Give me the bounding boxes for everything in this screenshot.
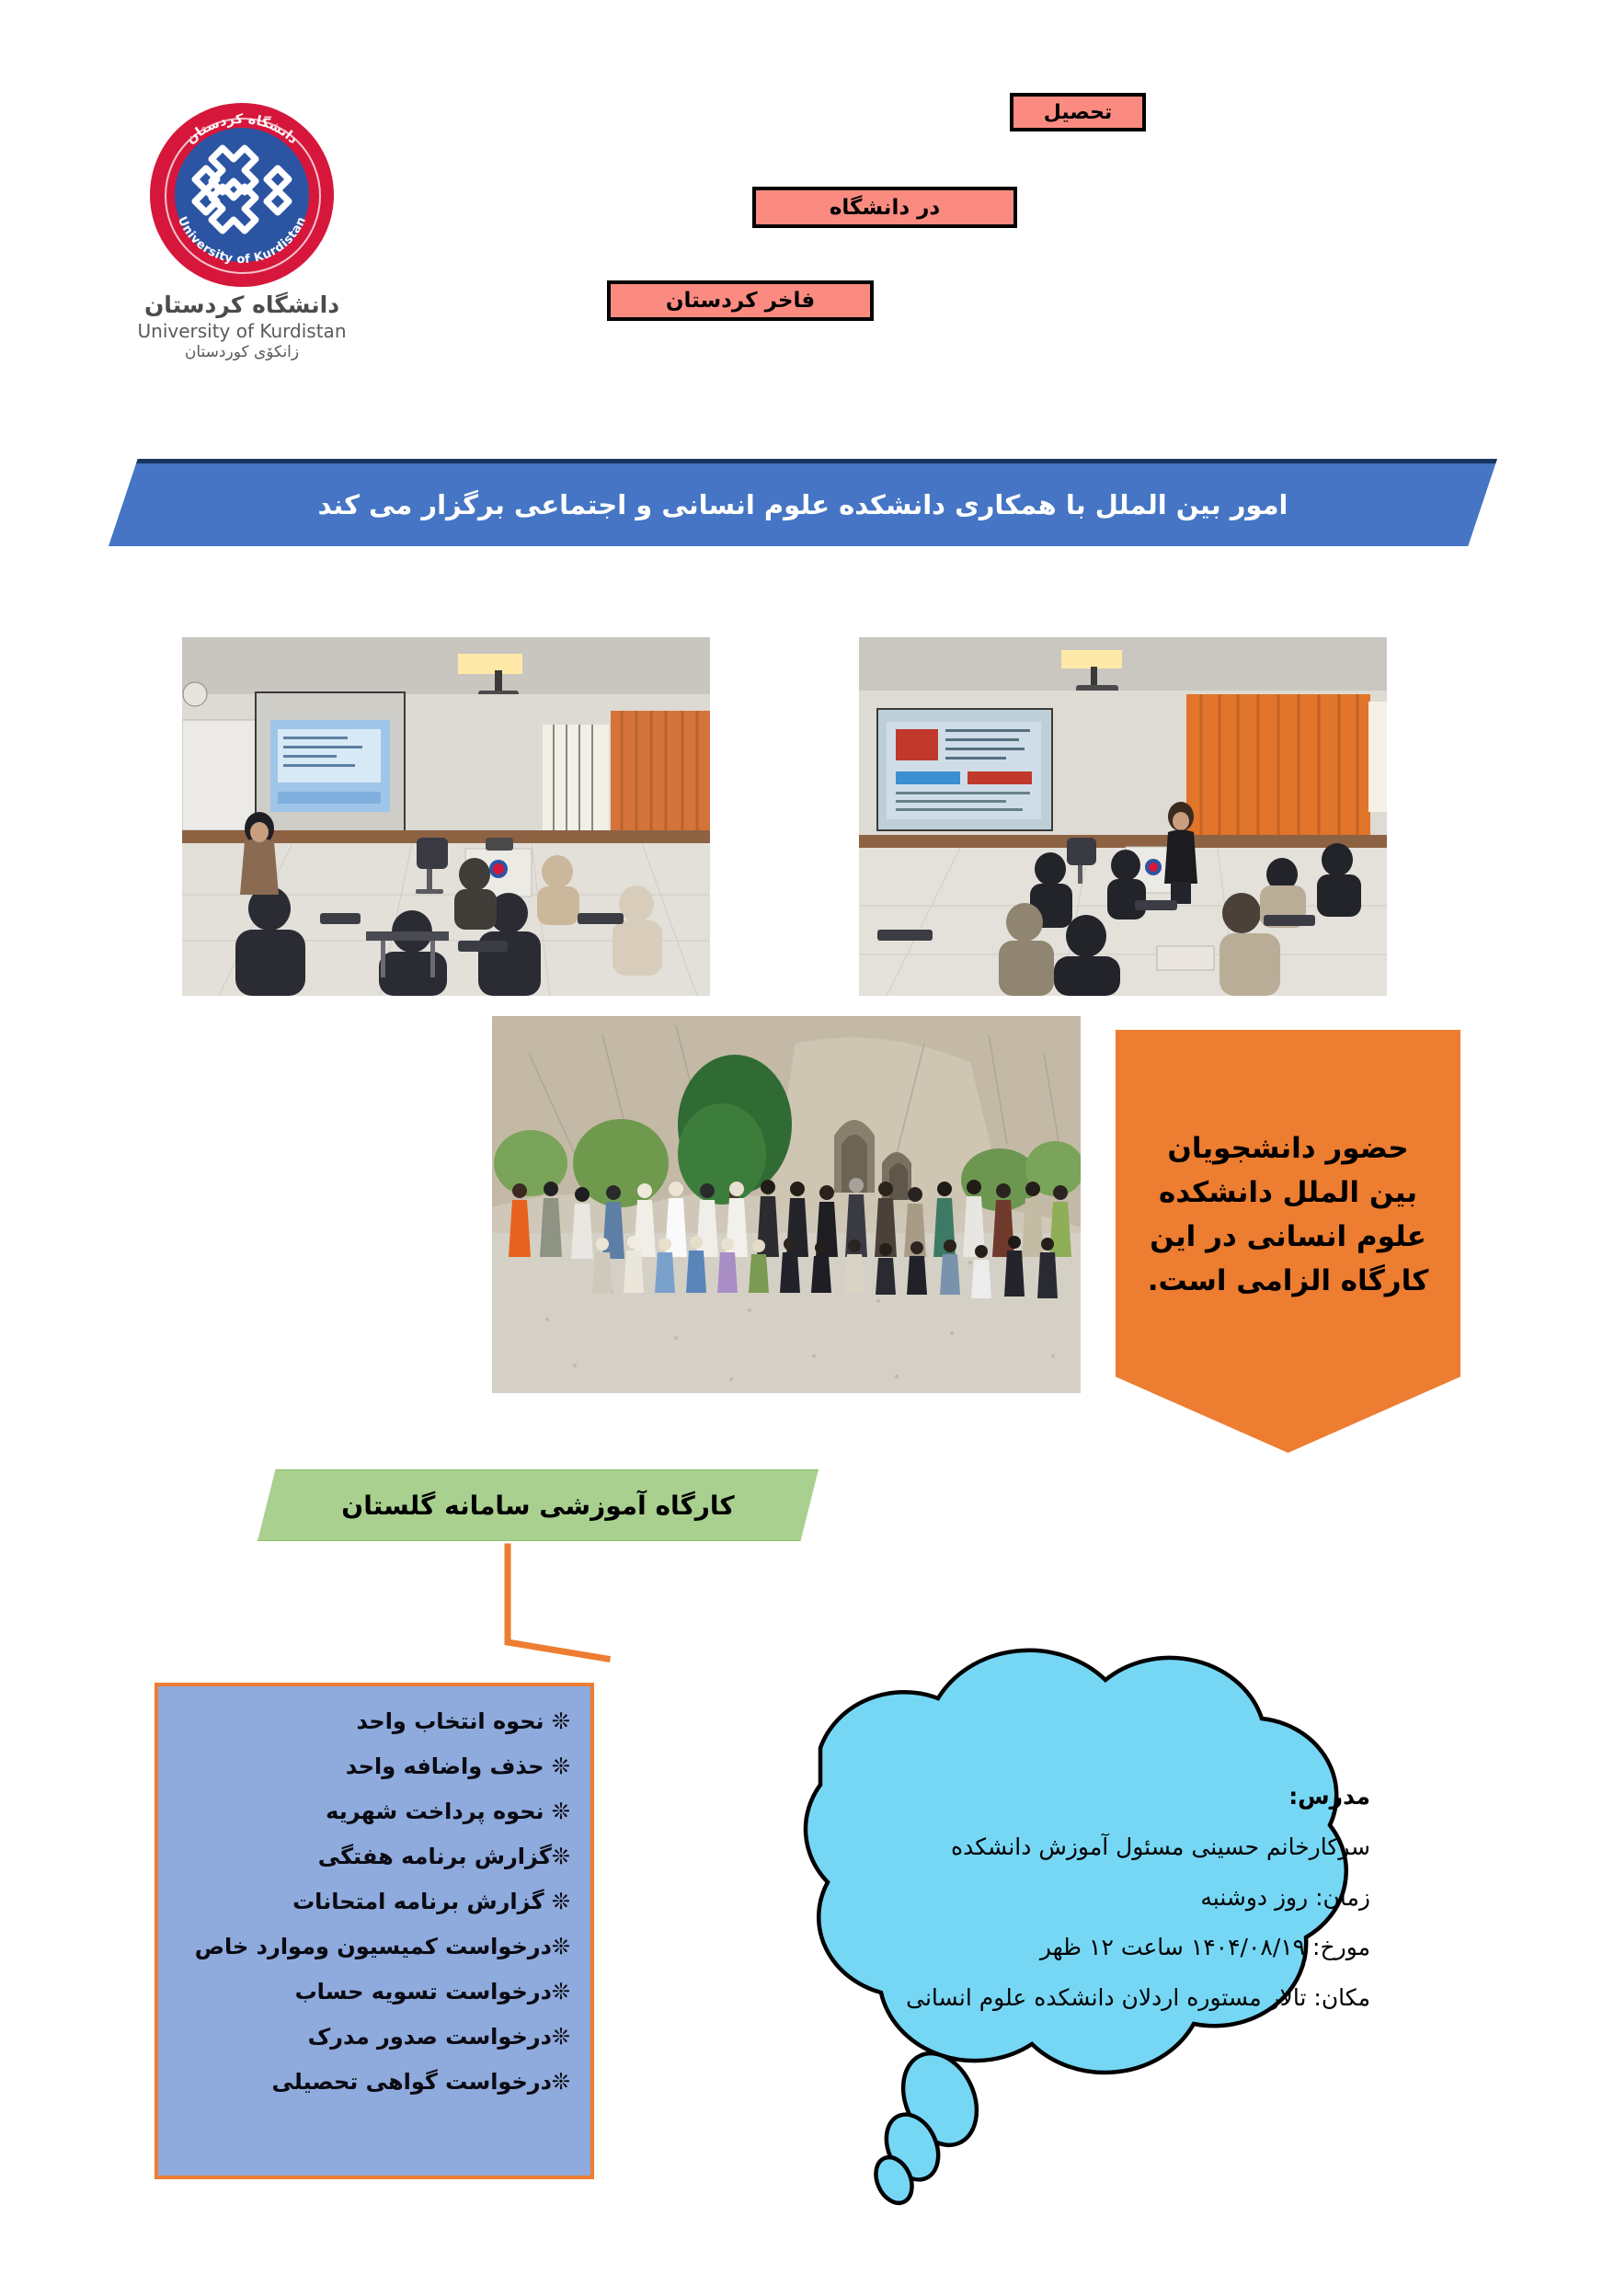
header-box-2: در دانشگاه xyxy=(752,187,1017,228)
header-box-1-label: تحصیل xyxy=(1044,101,1112,124)
mandatory-attendance-callout: حضور دانشجویان بین الملل دانشکده علوم ان… xyxy=(1116,1030,1460,1453)
workshop-title-shape: کارگاه آموزشی سامانه گلستان xyxy=(258,1469,819,1541)
list-item: ❊ حذف واضافه واحد xyxy=(178,1755,570,1777)
organizer-banner-text: امور بین الملل با همکاری دانشکده علوم ان… xyxy=(281,489,1324,520)
logo-name-en: University of Kurdistan xyxy=(109,320,375,342)
cloud-line-location: مکان: تالار مستوره اردلان دانشکده علوم ا… xyxy=(763,1985,1370,2012)
event-details-text: مدرس: سرکارخانم حسینی مسئول آموزش دانشکد… xyxy=(763,1784,1370,2036)
group-photo xyxy=(492,1016,1081,1393)
workshop-title-banner: کارگاه آموزشی سامانه گلستان xyxy=(258,1469,819,1541)
list-item: ❊درخواست کمیسیون وموارد خاص xyxy=(178,1936,570,1958)
list-item: ❊درخواست تسویه حساب xyxy=(178,1981,570,2003)
list-item: ❊ گزارش برنامه امتحانات xyxy=(178,1890,570,1913)
list-item: ❊گزارش برنامه هفتگی xyxy=(178,1845,570,1868)
logo-name-fa: دانشگاه کردستان xyxy=(109,292,375,319)
list-item: ❊ نحوه انتخاب واحد xyxy=(178,1710,570,1732)
mandatory-attendance-text: حضور دانشجویان بین الملل دانشکده علوم ان… xyxy=(1116,1126,1460,1356)
cloud-line-instructor-label: مدرس: xyxy=(763,1784,1370,1811)
workshop-title-text: کارگاه آموزشی سامانه گلستان xyxy=(341,1491,734,1521)
university-logo-block: دانشگاه کردستان University of Kurdistan … xyxy=(109,103,375,360)
organizer-banner-shape: امور بین الملل با همکاری دانشکده علوم ان… xyxy=(109,459,1497,546)
header-box-3-label: فاخر کردستان xyxy=(666,289,815,313)
header-box-2-label: در دانشگاه xyxy=(830,196,940,220)
classroom-photo-2 xyxy=(859,637,1387,996)
event-details-cloud: مدرس: سرکارخانم حسینی مسئول آموزش دانشکد… xyxy=(589,1623,1563,2285)
logo-knot-icon xyxy=(175,128,309,262)
list-item: ❊درخواست صدور مدرک xyxy=(178,2026,570,2048)
header-box-1: تحصیل xyxy=(1010,93,1146,131)
cloud-line-day: زمان: روز دوشنبه xyxy=(763,1885,1370,1912)
logo-wordmark: دانشگاه کردستان University of Kurdistan … xyxy=(109,292,375,361)
workshop-topics-list: ❊ نحوه انتخاب واحد ❊ حذف واضافه واحد ❊ ن… xyxy=(178,1710,570,2093)
university-logo-mark: دانشگاه کردستان University of Kurdistan xyxy=(150,103,334,287)
cloud-line-date-time: مورخ: ۱۴۰۴/۰۸/۱۹ ساعت ۱۲ ظهر xyxy=(763,1935,1370,1961)
list-item: ❊درخواست گواهی تحصیلی xyxy=(178,2071,570,2093)
classroom-photo-1 xyxy=(182,637,710,996)
cloud-line-instructor-name: سرکارخانم حسینی مسئول آموزش دانشکده xyxy=(763,1834,1370,1861)
header-box-3: فاخر کردستان xyxy=(607,280,874,321)
organizer-banner: امور بین الملل با همکاری دانشکده علوم ان… xyxy=(109,459,1497,546)
workshop-topics-box: ❊ نحوه انتخاب واحد ❊ حذف واضافه واحد ❊ ن… xyxy=(155,1683,594,2179)
logo-name-ku: زانکۆی کوردستان xyxy=(109,343,375,361)
list-item: ❊ نحوه پرداخت شهریه xyxy=(178,1800,570,1822)
